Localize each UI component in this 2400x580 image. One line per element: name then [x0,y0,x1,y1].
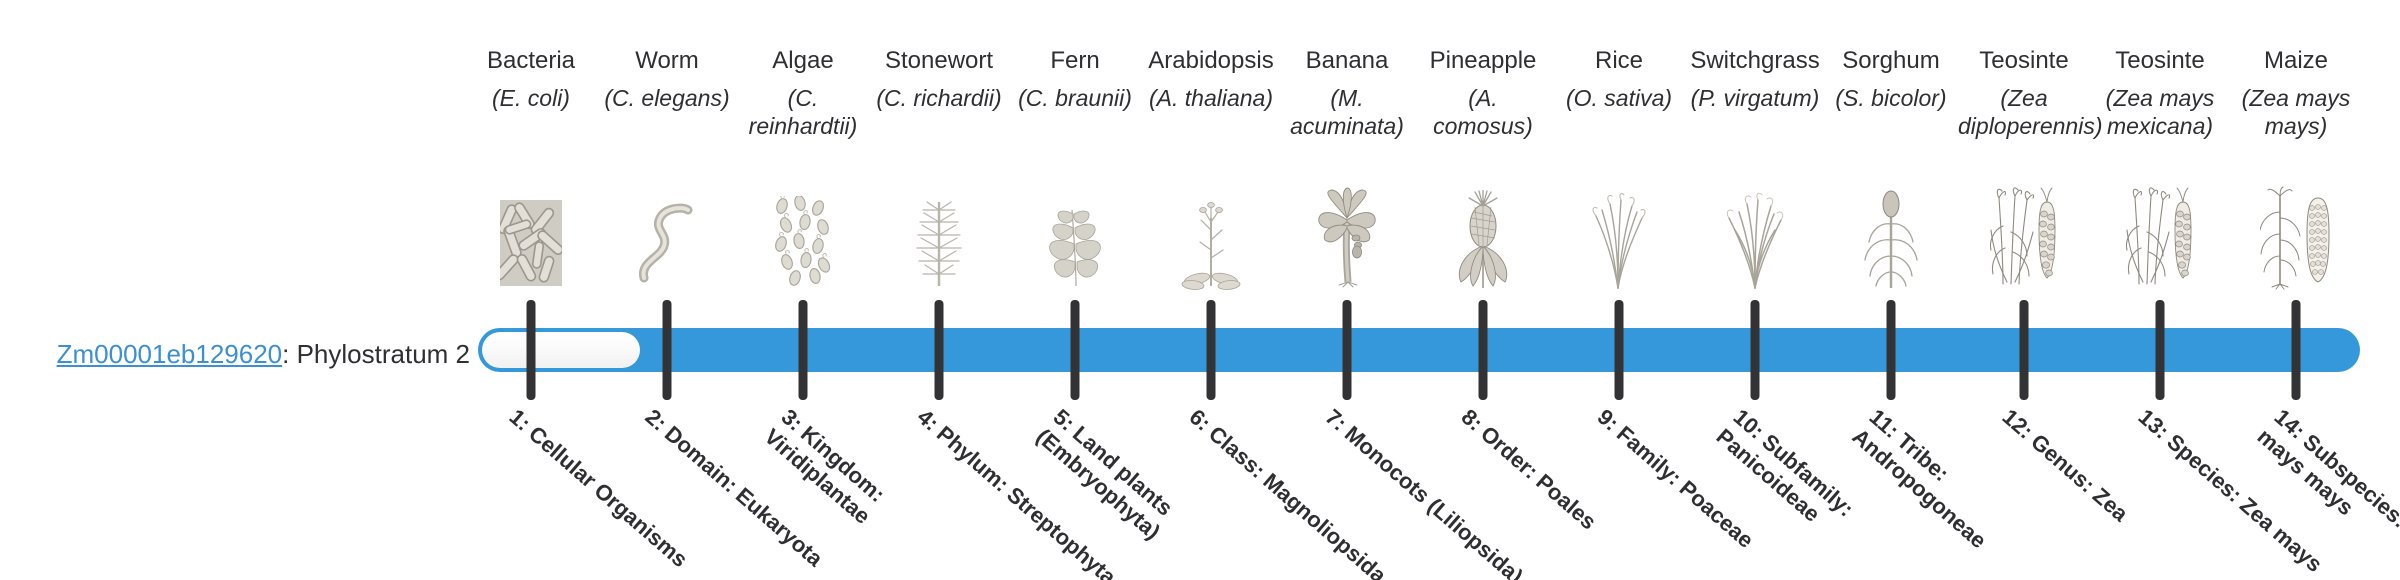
species-header-4: Stonewort(C. richardii) [873,46,1005,112]
tick-mark-10[interactable] [1751,300,1760,400]
species-scientific-name: (A. thaliana) [1145,84,1277,112]
tick-mark-1[interactable] [527,300,536,400]
species-scientific-name: (C. elegans) [601,84,733,112]
tick-mark-14[interactable] [2292,300,2301,400]
species-scientific-name: (Zea mays mexicana) [2094,84,2226,140]
stratum-name: Order: Poales [1471,417,1601,535]
species-scientific-name: (E. coli) [465,84,597,112]
maize-plant-cob-illustration [2260,170,2332,290]
pineapple-illustration [1453,170,1513,290]
species-header-2: Worm(C. elegans) [601,46,733,112]
species-common-name: Pineapple [1417,46,1549,76]
gene-label: Zm00001eb129620: Phylostratum 2 [0,339,470,369]
species-scientific-name: (P. virgatum) [1689,84,1821,112]
species-common-name: Maize [2230,46,2362,76]
tick-mark-2[interactable] [663,300,672,400]
phylostratum-progress-bar[interactable] [478,328,2360,372]
species-scientific-name: (Zea mays mays) [2230,84,2362,140]
species-common-name: Teosinte [1958,46,2090,76]
species-header-8: Pineapple(A. comosus) [1417,46,1549,140]
species-header-6: Arabidopsis(A. thaliana) [1145,46,1277,112]
species-common-name: Banana [1281,46,1413,76]
species-header-1: Bacteria(E. coli) [465,46,597,112]
stratum-label-14[interactable]: 14: Subspecies: Zea mays mays [2252,404,2400,580]
species-common-name: Sorghum [1825,46,1957,76]
phylostratum-progress-unfilled [482,332,640,368]
species-scientific-name: (A. comosus) [1417,84,1549,140]
species-header-12: Teosinte(Zea diploperennis) [1958,46,2090,140]
species-common-name: Fern [1009,46,1141,76]
teosinte-plant-ear-illustration [2125,170,2195,290]
species-scientific-name: (Zea diploperennis) [1958,84,2090,140]
species-common-name: Worm [601,46,733,76]
sorghum-illustration [1861,170,1921,290]
fern-illustration [1036,170,1114,290]
species-header-14: Maize(Zea mays mays) [2230,46,2362,140]
species-header-5: Fern(C. braunii) [1009,46,1141,112]
phylostratum-value: : Phylostratum 2 [282,339,470,369]
teosinte-plant-ear-illustration [1989,170,2059,290]
arabidopsis-illustration [1181,170,1241,290]
species-common-name: Algae [737,46,869,76]
tick-mark-13[interactable] [2156,300,2165,400]
species-header-3: Algae(C. reinhardtii) [737,46,869,140]
species-header-9: Rice(O. sativa) [1553,46,1685,112]
species-common-name: Switchgrass [1689,46,1821,76]
tick-mark-12[interactable] [2020,300,2029,400]
species-header-7: Banana(M. acuminata) [1281,46,1413,140]
tick-mark-8[interactable] [1479,300,1488,400]
species-scientific-name: (S. bicolor) [1825,84,1957,112]
tick-mark-5[interactable] [1071,300,1080,400]
species-common-name: Arabidopsis [1145,46,1277,76]
ecoli-rods-illustration [500,170,562,290]
tick-mark-6[interactable] [1207,300,1216,400]
nematode-worm-illustration [638,170,696,290]
stratum-name: Subfamily: Panicoideae [1712,424,1859,527]
species-common-name: Stonewort [873,46,1005,76]
species-header-13: Teosinte(Zea mays mexicana) [2094,46,2226,140]
tick-mark-11[interactable] [1887,300,1896,400]
tick-mark-3[interactable] [799,300,808,400]
banana-palm-illustration [1315,170,1379,290]
tick-mark-9[interactable] [1615,300,1624,400]
tick-mark-4[interactable] [935,300,944,400]
species-common-name: Bacteria [465,46,597,76]
species-header-10: Switchgrass(P. virgatum) [1689,46,1821,112]
stratum-name: Genus: Zea [2022,425,2133,526]
species-common-name: Rice [1553,46,1685,76]
species-scientific-name: (O. sativa) [1553,84,1685,112]
rice-grass-illustration [1588,170,1650,290]
species-scientific-name: (C. braunii) [1009,84,1141,112]
gene-id-link[interactable]: Zm00001eb129620 [57,339,283,369]
stonewort-illustration [909,170,969,290]
species-common-name: Teosinte [2094,46,2226,76]
phylostratum-timeline: Zm00001eb129620: Phylostratum 2 Bacteria… [0,0,2400,580]
species-scientific-name: (M. acuminata) [1281,84,1413,140]
chlamydomonas-illustration [773,170,833,290]
species-scientific-name: (C. richardii) [873,84,1005,112]
switchgrass-illustration [1723,170,1787,290]
tick-mark-7[interactable] [1343,300,1352,400]
species-header-11: Sorghum(S. bicolor) [1825,46,1957,112]
species-scientific-name: (C. reinhardtii) [737,84,869,140]
